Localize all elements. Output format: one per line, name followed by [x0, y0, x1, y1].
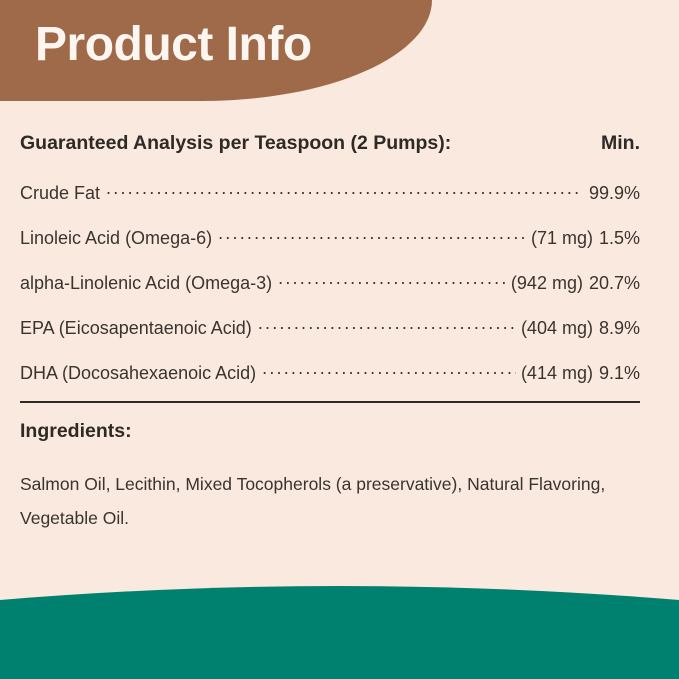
nutrient-name: DHA (Docosahexaenoic Acid) — [20, 363, 262, 384]
nutrient-percent: 1.5% — [593, 228, 640, 249]
nutrient-name: EPA (Eicosapentaenoic Acid) — [20, 318, 258, 339]
guaranteed-analysis-section: Guaranteed Analysis per Teaspoon (2 Pump… — [20, 132, 640, 384]
nutrient-percent: 99.9% — [583, 183, 640, 204]
nutrient-row: Linoleic Acid (Omega-6) (71 mg) 1.5% — [20, 226, 640, 249]
nutrient-name: Crude Fat — [20, 183, 106, 204]
nutrient-amount: (71 mg) — [526, 228, 593, 249]
nutrient-row: EPA (Eicosapentaenoic Acid) (404 mg) 8.9… — [20, 316, 640, 339]
section-divider — [20, 401, 640, 403]
dotted-leader — [258, 316, 516, 334]
dotted-leader — [218, 226, 526, 244]
nutrient-percent: 20.7% — [583, 273, 640, 294]
nutrient-percent: 8.9% — [593, 318, 640, 339]
page-title: Product Info — [35, 16, 312, 74]
dotted-leader — [106, 181, 578, 199]
footer-wave-shape — [0, 559, 679, 679]
footer-wave-decoration — [0, 559, 679, 679]
ingredients-text: Salmon Oil, Lecithin, Mixed Tocopherols … — [20, 467, 648, 535]
nutrient-name: alpha-Linolenic Acid (Omega-3) — [20, 273, 278, 294]
dotted-leader — [278, 271, 506, 289]
analysis-heading: Guaranteed Analysis per Teaspoon (2 Pump… — [20, 132, 451, 155]
ingredients-section: Ingredients: Salmon Oil, Lecithin, Mixed… — [20, 420, 650, 535]
nutrient-row: DHA (Docosahexaenoic Acid) (414 mg) 9.1% — [20, 361, 640, 384]
analysis-header-row: Guaranteed Analysis per Teaspoon (2 Pump… — [20, 132, 640, 155]
nutrient-amount: (942 mg) — [506, 273, 583, 294]
nutrient-percent: 9.1% — [593, 363, 640, 384]
nutrient-row: alpha-Linolenic Acid (Omega-3) (942 mg) … — [20, 271, 640, 294]
ingredients-heading: Ingredients: — [20, 420, 650, 443]
nutrient-name: Linoleic Acid (Omega-6) — [20, 228, 218, 249]
min-column-header: Min. — [601, 132, 640, 155]
nutrient-amount: (414 mg) — [516, 363, 593, 384]
header-banner: Product Info — [0, 0, 432, 101]
nutrient-amount: (404 mg) — [516, 318, 593, 339]
nutrient-row: Crude Fat 99.9% — [20, 181, 640, 204]
dotted-leader — [262, 361, 516, 379]
product-info-card: Product Info Guaranteed Analysis per Tea… — [0, 0, 679, 679]
